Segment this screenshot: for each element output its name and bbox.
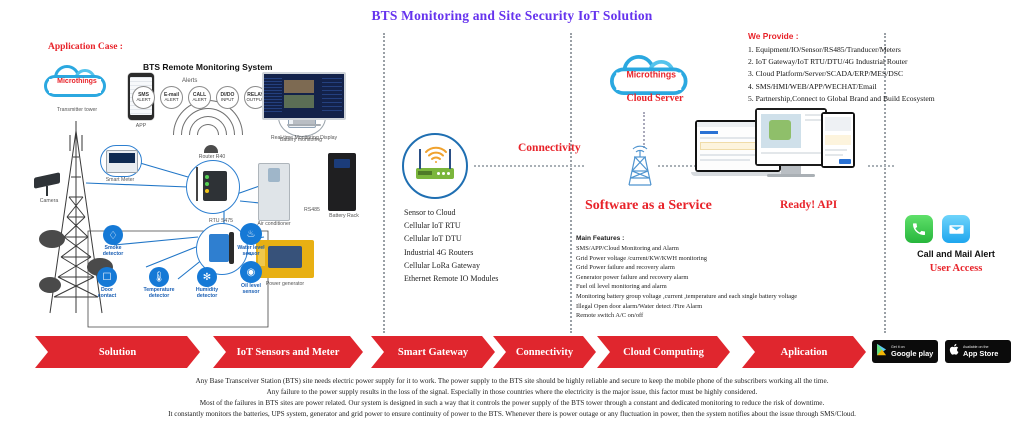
cloud-server-brand: Microthings (610, 71, 693, 80)
feature-item: Fuel oil level monitoring and alarm (576, 282, 876, 292)
ready-api-label: Ready! API (780, 199, 837, 211)
camera-label: Camera (28, 198, 70, 204)
battery-rack-image (328, 153, 356, 211)
dido-alert-bottom: INPUT (221, 98, 234, 103)
bts-system-title: BTS Remote Monitoring System (143, 62, 272, 72)
page-title: BTS Monitoring and Site Security IoT Sol… (0, 8, 1024, 24)
envelope-icon[interactable] (942, 215, 970, 243)
di-do-alert-icon: DI/DO INPUT (216, 86, 239, 109)
feature-item: Monitoring battery group voltage ,curren… (576, 292, 876, 302)
air-conditioner-image (258, 163, 290, 221)
feature-item: Illegal Open door alarm/Water detect /Fi… (576, 302, 876, 312)
footer-line: Any failure to the power supply results … (40, 387, 984, 398)
gateway-item: Ethernet Remote IO Modules (404, 272, 564, 285)
sensor-humidity-detector: ✻ Humiditydetector (184, 267, 230, 299)
main-features-block: Main Features : SMS/APP/Cloud Monitoring… (576, 234, 876, 321)
alert-icon-row: SMS ALERT E-mail ALERT CALL ALERT DI/DO … (132, 86, 267, 109)
multi-device-mockup (695, 108, 855, 186)
feature-item: SMS/APP/Cloud Monitoring and Alarm (576, 244, 876, 254)
wifi-router-icon (404, 135, 466, 197)
router-node (186, 160, 240, 214)
feature-item: Remote switch A/C on/off (576, 311, 876, 321)
feature-item: Generator power failure and recovery ala… (576, 273, 876, 283)
email-alert-icon: E-mail ALERT (160, 86, 183, 109)
application-case-heading: Application Case : (48, 42, 123, 52)
smoke-detector-label: Smokedetector (90, 246, 136, 257)
we-provide-item: 3. Cloud Platform/Server/SCADA/ERP/MES/D… (748, 68, 1018, 80)
cloud-brand-label: Microthings (44, 78, 110, 85)
sensor-temperature-detector: 🌡 Temperaturedetector (136, 267, 182, 299)
store-badges: Get it on Google play Available on the A… (872, 340, 1011, 363)
play-badge-big: Google play (891, 350, 933, 358)
divider-left (383, 33, 385, 333)
battery-rack-label: Battery Rack (320, 213, 368, 219)
water-level-sensor-label: Water levelsensor (228, 246, 274, 257)
smart-gateway-node (402, 133, 468, 199)
humidity-detector-label: Humiditydetector (184, 288, 230, 299)
cell-tower-icon (625, 145, 655, 192)
we-provide-item: 5. Partnership,Connect to Global Brand a… (748, 93, 1018, 105)
cloud-to-tower-dots (643, 112, 645, 148)
we-provide-block: We Provide : 1. Equipment/IO/Sensor/RS48… (748, 30, 1018, 106)
ribbon-step-smart-gateway[interactable]: Smart Gateway (371, 336, 495, 368)
connectivity-dots-right (868, 165, 894, 167)
call-alert-bottom: ALERT (192, 98, 206, 103)
feature-item: Grid Power failure and recovery alarm (576, 263, 876, 273)
temperature-detector-label: Temperaturedetector (136, 288, 182, 299)
we-provide-item: 1. Equipment/IO/Sensor/RS485/Tranducer/M… (748, 44, 1018, 56)
apple-logo-icon (949, 343, 960, 361)
smart-meter-label: Smart Meter (94, 177, 146, 183)
router-label: Router R40 (186, 154, 238, 160)
sensor-door-contact: ☐ Doorcontact (84, 267, 130, 299)
user-access-label: User Access (888, 263, 1024, 274)
connectivity-dots-left (474, 165, 584, 167)
footer-line: It constantly monitors the batteries, UP… (40, 409, 984, 420)
play-triangle-icon (876, 343, 888, 361)
footer-description: Any Base Transceiver Station (BTS) site … (40, 376, 984, 420)
monitor-caption: Real-time Monitoring Display (258, 135, 350, 141)
camera-image (34, 175, 68, 197)
infographic-page: BTS Monitoring and Site Security IoT Sol… (0, 0, 1024, 427)
ribbon-step-iot-sensors[interactable]: IoT Sensors and Meter (213, 336, 363, 368)
ribbon-step-solution[interactable]: Solution (35, 336, 200, 368)
oil-level-sensor-label: Oil levelsensor (228, 284, 274, 295)
sms-alert-icon: SMS ALERT (132, 86, 155, 109)
footer-line: Most of the failures in BTS sites are po… (40, 398, 984, 409)
sensor-smoke-detector: ♢ Smokedetector (90, 225, 136, 257)
cloud-server-logo: Microthings (610, 55, 676, 89)
alerts-caption: Alerts (182, 78, 197, 84)
ribbon-step-connectivity[interactable]: Connectivity (493, 336, 596, 368)
ribbon-step-cloud-computing[interactable]: Cloud Computing (597, 336, 730, 368)
call-mail-alert-label: Call and Mail Alert (888, 249, 1024, 259)
google-play-badge[interactable]: Get it on Google play (872, 340, 938, 363)
gateway-item: Cellular IoT DTU (404, 232, 564, 245)
we-provide-item: 2. IoT Gateway/IoT RTU/DTU/4G Industrial… (748, 56, 1018, 68)
feature-item: Grid Power voltage /current/KW/KWH monit… (576, 254, 876, 264)
divider-mid (570, 33, 572, 333)
email-alert-bottom: ALERT (164, 98, 178, 103)
sensor-oil-level: ◉ Oil levelsensor (228, 261, 274, 295)
we-provide-title: We Provide : (748, 30, 1018, 44)
gateway-feature-list: Sensor to Cloud Cellular IoT RTU Cellula… (404, 206, 564, 285)
connectivity-label: Connectivity (518, 142, 581, 154)
footer-line: Any Base Transceiver Station (BTS) site … (40, 376, 984, 387)
saas-label: Software as a Service (585, 198, 712, 214)
sensor-water-level: ♨ Water levelsensor (228, 223, 274, 257)
call-alert-icon: CALL ALERT (188, 86, 211, 109)
appstore-badge-big: App Store (963, 350, 998, 358)
gateway-item: Industrial 4G Routers (404, 246, 564, 259)
gateway-item: Cellular IoT RTU (404, 219, 564, 232)
alert-channel-icons (905, 215, 970, 243)
sms-alert-bottom: ALERT (136, 98, 150, 103)
process-ribbon: Solution IoT Sensors and Meter Smart Gat… (0, 336, 1024, 368)
phone-icon[interactable] (905, 215, 933, 243)
gateway-item: Cellular LoRa Gateway (404, 259, 564, 272)
door-contact-label: Doorcontact (84, 288, 130, 299)
main-features-title: Main Features : (576, 234, 876, 244)
we-provide-item: 4. SMS/HMI/WEB/APP/WECHAT/Email (748, 81, 1018, 93)
ribbon-step-application[interactable]: Aplication (742, 336, 866, 368)
cloud-server-label: Cloud Server (600, 93, 710, 104)
gateway-item: Sensor to Cloud (404, 206, 564, 219)
antenna-dish-icon (204, 145, 218, 153)
monitoring-display-image (262, 72, 346, 128)
smart-meter-node (100, 145, 142, 177)
app-store-badge[interactable]: Available on the App Store (945, 340, 1011, 363)
